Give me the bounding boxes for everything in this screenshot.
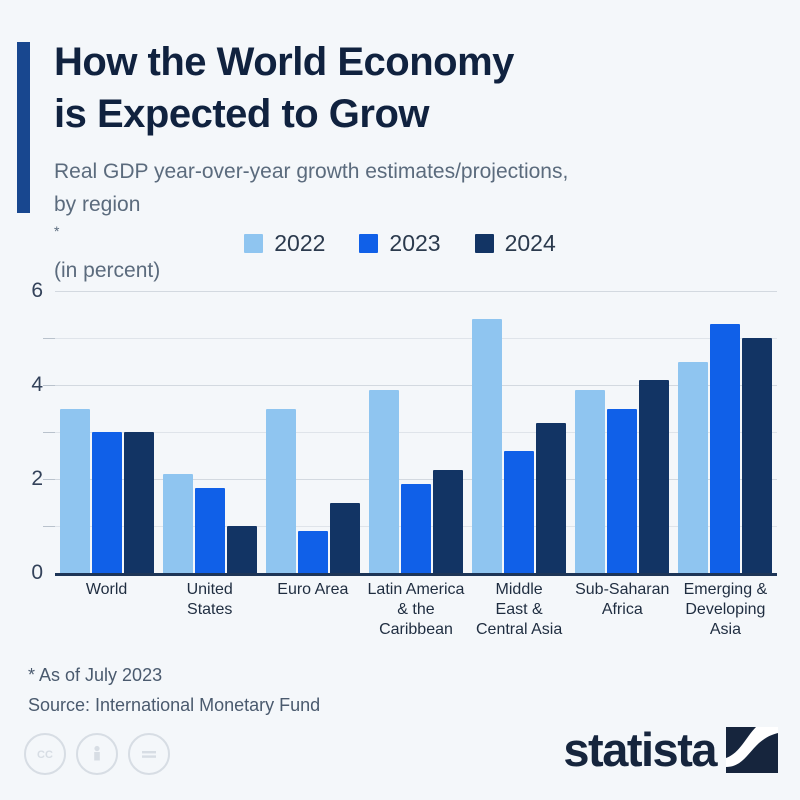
bar-2022[interactable]: [369, 390, 399, 573]
legend-item-2022[interactable]: 2022: [244, 230, 325, 257]
x-axis-label: Euro Area: [261, 580, 364, 640]
x-axis-label-line: Latin America: [364, 580, 467, 600]
bar-group: [678, 291, 772, 573]
y-axis-tick-6: 6: [3, 279, 43, 303]
bar-group: [369, 291, 463, 573]
legend-swatch-2023: [359, 234, 378, 253]
title-accent-bar: [17, 42, 30, 213]
bar-2023[interactable]: [298, 531, 328, 573]
bar-2024[interactable]: [536, 423, 566, 573]
x-axis-label-line: Developing: [674, 600, 777, 620]
bar-2022[interactable]: [575, 390, 605, 573]
bar-2023[interactable]: [401, 484, 431, 573]
creative-commons-icons: CC: [24, 733, 170, 775]
statista-mark-icon: [726, 727, 778, 773]
x-axis-label-line: States: [158, 600, 261, 620]
bar-groups: [55, 291, 777, 573]
y-tick-stub-3: [43, 432, 55, 433]
x-axis-label-line: Euro Area: [261, 580, 364, 600]
x-axis-label: Sub-SaharanAfrica: [571, 580, 674, 640]
legend-item-2023[interactable]: 2023: [359, 230, 440, 257]
page-title: How the World Economy is Expected to Gro…: [54, 36, 754, 140]
bar-2023[interactable]: [504, 451, 534, 573]
bar-2024[interactable]: [227, 526, 257, 573]
bar-2024[interactable]: [433, 470, 463, 573]
bar-group: [472, 291, 566, 573]
x-axis-label-line: Caribbean: [364, 620, 467, 640]
y-axis-tick-0: 0: [3, 561, 43, 585]
infographic-header: How the World Economy is Expected to Gro…: [0, 0, 800, 225]
svg-text:CC: CC: [37, 749, 53, 761]
y-tick-stub-4: [43, 385, 55, 386]
x-axis-label-line: United: [158, 580, 261, 600]
legend-label-2024: 2024: [505, 230, 556, 257]
subtitle-line-1: Real GDP year-over-year growth estimates…: [54, 155, 764, 188]
x-axis-label: Latin America& theCaribbean: [364, 580, 467, 640]
cc-nd-equals-icon[interactable]: [128, 733, 170, 775]
source-text: Source: International Monetary Fund: [28, 690, 320, 720]
bar-group: [60, 291, 154, 573]
bar-chart: 0246 WorldUnitedStatesEuro AreaLatin Ame…: [0, 275, 800, 645]
bar-2023[interactable]: [710, 324, 740, 573]
legend-label-2022: 2022: [274, 230, 325, 257]
bar-2024[interactable]: [330, 503, 360, 574]
x-axis-label: World: [55, 580, 158, 640]
x-axis-label-line: Emerging &: [674, 580, 777, 600]
y-axis-tick-2: 2: [3, 467, 43, 491]
legend-label-2023: 2023: [389, 230, 440, 257]
bar-2023[interactable]: [607, 409, 637, 574]
bar-2023[interactable]: [195, 488, 225, 573]
legend-swatch-2024: [475, 234, 494, 253]
y-tick-stub-5: [43, 338, 55, 339]
x-axis-labels: WorldUnitedStatesEuro AreaLatin America&…: [55, 580, 777, 640]
title-line-2: is Expected to Grow: [54, 88, 754, 140]
y-tick-stub-2: [43, 479, 55, 480]
bar-group: [163, 291, 257, 573]
bar-2022[interactable]: [472, 319, 502, 573]
cc-glyph: CC: [34, 743, 56, 765]
page-subtitle: Real GDP year-over-year growth estimates…: [54, 155, 764, 287]
equals-glyph: [138, 743, 160, 765]
bar-2022[interactable]: [266, 409, 296, 574]
bar-2024[interactable]: [639, 380, 669, 573]
bar-2024[interactable]: [124, 432, 154, 573]
cc-by-person-icon[interactable]: [76, 733, 118, 775]
bar-2022[interactable]: [678, 362, 708, 574]
statista-logo[interactable]: statista: [563, 726, 778, 773]
legend-swatch-2022: [244, 234, 263, 253]
x-axis-label-line: Middle: [468, 580, 571, 600]
x-axis-label-line: Sub-Saharan: [571, 580, 674, 600]
x-axis-label: Emerging &DevelopingAsia: [674, 580, 777, 640]
bar-2023[interactable]: [92, 432, 122, 573]
cc-icon[interactable]: CC: [24, 733, 66, 775]
x-axis-label-line: & the: [364, 600, 467, 620]
y-axis-tick-4: 4: [3, 373, 43, 397]
x-axis-label: UnitedStates: [158, 580, 261, 640]
title-line-1: How the World Economy: [54, 36, 754, 88]
bar-2024[interactable]: [742, 338, 772, 573]
x-axis-label-line: Africa: [571, 600, 674, 620]
x-axis-label-line: World: [55, 580, 158, 600]
footnote-text: * As of July 2023: [28, 660, 320, 690]
chart-legend: 2022 2023 2024: [0, 230, 800, 257]
bar-group: [575, 291, 669, 573]
subtitle-region-text: by region: [54, 188, 764, 221]
bar-2022[interactable]: [60, 409, 90, 574]
x-axis-baseline: [55, 573, 777, 576]
x-axis-label-line: Asia: [674, 620, 777, 640]
person-glyph: [86, 743, 108, 765]
x-axis-label: MiddleEast &Central Asia: [468, 580, 571, 640]
legend-item-2024[interactable]: 2024: [475, 230, 556, 257]
x-axis-label-line: East &: [468, 600, 571, 620]
bar-2022[interactable]: [163, 474, 193, 573]
x-axis-label-line: Central Asia: [468, 620, 571, 640]
statista-wordmark: statista: [563, 726, 716, 773]
footnote-block: * As of July 2023 Source: International …: [28, 660, 320, 720]
y-tick-stub-1: [43, 526, 55, 527]
bar-group: [266, 291, 360, 573]
